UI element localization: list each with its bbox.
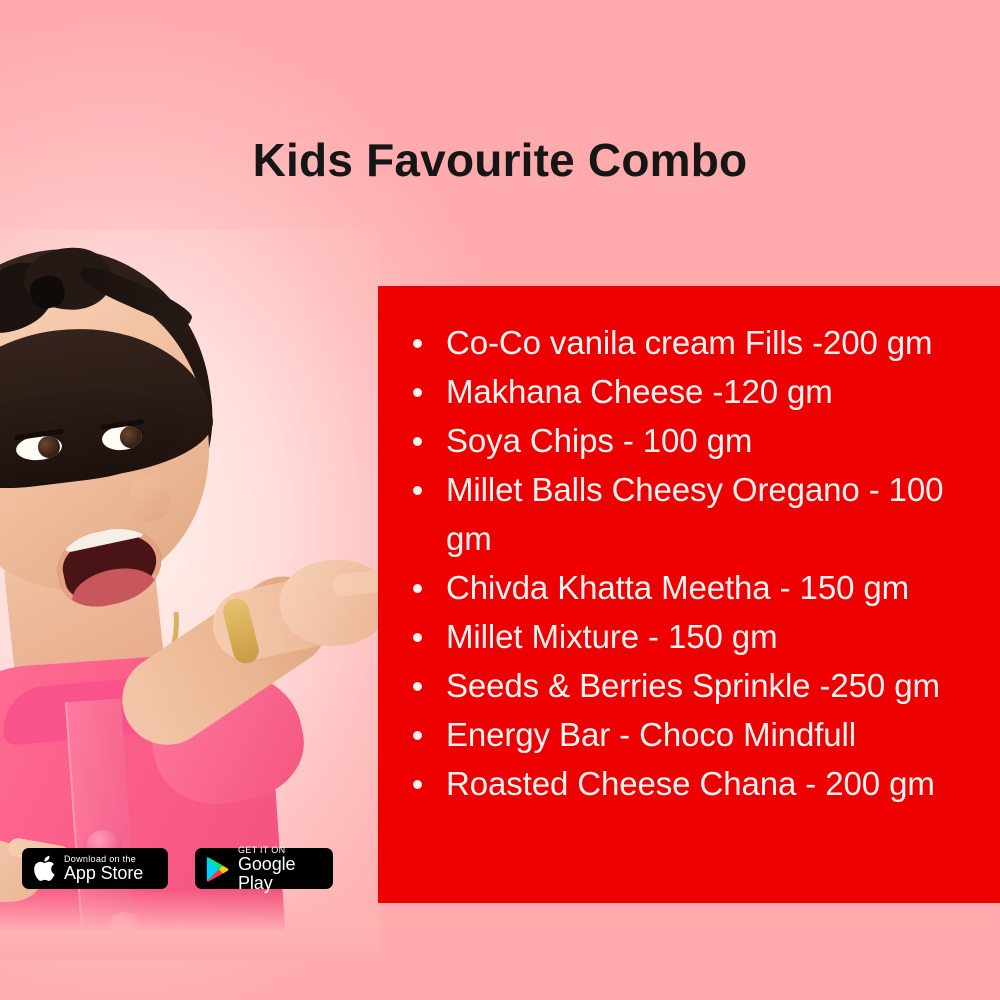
google-play-big-label: Google Play [238,855,322,893]
app-store-text: Download on the App Store [64,854,143,883]
combo-list-item: Roasted Cheese Chana - 200 gm [388,759,988,808]
app-store-big-label: App Store [64,864,143,883]
combo-list-panel: Co-Co vanila cream Fills -200 gmMakhana … [378,286,1000,903]
apple-logo-icon [33,855,56,882]
google-play-badge[interactable]: GET IT ON Google Play [195,848,333,889]
photo-bottom-fade [0,890,380,960]
google-play-triangle-icon [206,856,230,882]
combo-list-item: Chivda Khatta Meetha - 150 gm [388,563,988,612]
combo-list-item: Seeds & Berries Sprinkle -250 gm [388,661,988,710]
combo-list-item: Soya Chips - 100 gm [388,416,988,465]
store-badges: Download on the App Store GET IT ON Goog… [22,848,333,889]
combo-list: Co-Co vanila cream Fills -200 gmMakhana … [388,318,988,808]
app-store-badge[interactable]: Download on the App Store [22,848,168,889]
combo-list-item: Millet Mixture - 150 gm [388,612,988,661]
google-play-text: GET IT ON Google Play [238,845,322,893]
poster-canvas: Kids Favourite Combo Co-Co vanila cream … [0,0,1000,1000]
combo-list-item: Energy Bar - Choco Mindfull [388,710,988,759]
google-play-small-label: GET IT ON [238,845,322,855]
combo-list-item: Millet Balls Cheesy Oregano - 100 gm [388,465,988,563]
combo-list-item: Makhana Cheese -120 gm [388,367,988,416]
combo-list-item: Co-Co vanila cream Fills -200 gm [388,318,988,367]
page-title: Kids Favourite Combo [0,133,1000,187]
